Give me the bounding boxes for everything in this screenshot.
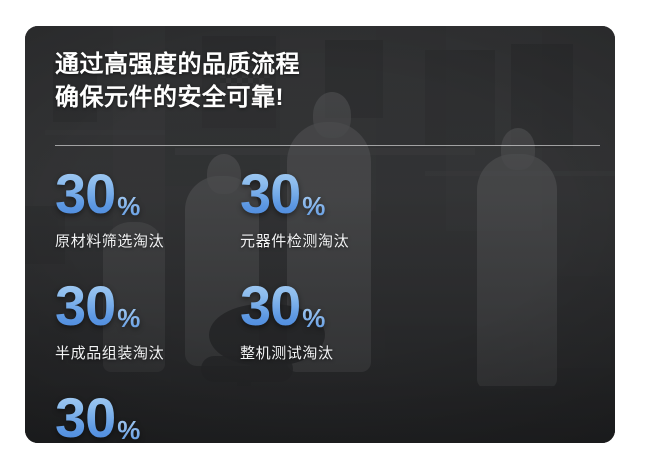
stat-item: 30 % 整机测试淘汰 bbox=[240, 278, 425, 363]
stat-value: 30 bbox=[240, 278, 300, 334]
stat-label: 半成品组装淘汰 bbox=[55, 342, 240, 363]
stat-label: 原材料筛选淘汰 bbox=[55, 230, 240, 251]
card-content: 通过高强度的品质流程 确保元件的安全可靠! 30 % 原材料筛选淘汰 30 % … bbox=[25, 26, 615, 443]
headline: 通过高强度的品质流程 确保元件的安全可靠! bbox=[55, 48, 300, 114]
stat-item: 30 % 原材料筛选淘汰 bbox=[55, 166, 240, 251]
stat-value-row: 30 % bbox=[55, 166, 240, 222]
stat-value-row: 30 % bbox=[240, 278, 425, 334]
stat-unit: % bbox=[302, 193, 325, 222]
stat-value-row: 30 % bbox=[240, 166, 425, 222]
stat-value: 30 bbox=[55, 166, 115, 222]
stat-unit: % bbox=[117, 305, 140, 334]
stat-item: 30 % 成品出厂淘汰 bbox=[55, 390, 240, 443]
stat-value-row: 30 % bbox=[55, 278, 240, 334]
stat-label: 元器件检测淘汰 bbox=[240, 230, 425, 251]
stat-value: 30 bbox=[240, 166, 300, 222]
quality-process-card: 通过高强度的品质流程 确保元件的安全可靠! 30 % 原材料筛选淘汰 30 % … bbox=[25, 26, 615, 443]
stat-unit: % bbox=[302, 305, 325, 334]
stat-label: 整机测试淘汰 bbox=[240, 342, 425, 363]
stat-item: 30 % 半成品组装淘汰 bbox=[55, 278, 240, 363]
stat-unit: % bbox=[117, 417, 140, 443]
stat-value: 30 bbox=[55, 390, 115, 443]
stat-unit: % bbox=[117, 193, 140, 222]
stat-item: 30 % 元器件检测淘汰 bbox=[240, 166, 425, 251]
stat-value-row: 30 % bbox=[55, 390, 240, 443]
stat-value: 30 bbox=[55, 278, 115, 334]
banner-stage: 通过高强度的品质流程 确保元件的安全可靠! 30 % 原材料筛选淘汰 30 % … bbox=[0, 0, 650, 470]
stats-grid: 30 % 原材料筛选淘汰 30 % 元器件检测淘汰 30 % bbox=[55, 166, 600, 443]
headline-divider bbox=[55, 145, 600, 146]
